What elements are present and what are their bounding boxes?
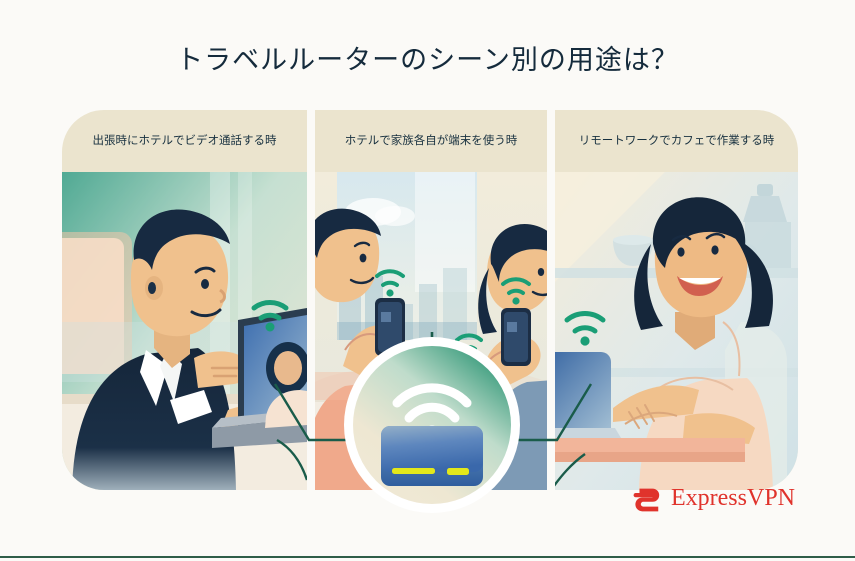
expressvpn-e-icon	[632, 483, 662, 513]
page-title: トラベルルーターのシーン別の用途は？	[0, 38, 855, 77]
scene-panel-remote-work-cafe: リモートワークでカフェで作業する時	[555, 110, 798, 490]
scene-illustration-cafe	[555, 172, 798, 490]
scene-panel-business-video-call: 出張時にホテルでビデオ通話する時	[62, 110, 307, 490]
expressvpn-logo: ExpressVPN	[632, 483, 795, 513]
panel-caption: ホテルで家族各自が端末を使う時	[315, 110, 547, 172]
expressvpn-wordmark: ExpressVPN	[671, 486, 795, 510]
scene-illustration-businessman	[62, 172, 307, 490]
panel-caption: リモートワークでカフェで作業する時	[555, 110, 798, 172]
panel-caption: 出張時にホテルでビデオ通話する時	[62, 110, 307, 172]
bottom-divider	[0, 556, 855, 558]
travel-router-hub	[337, 330, 527, 520]
infographic-canvas: トラベルルーターのシーン別の用途は？ 出張時にホテルでビデオ通話する時	[0, 0, 855, 561]
